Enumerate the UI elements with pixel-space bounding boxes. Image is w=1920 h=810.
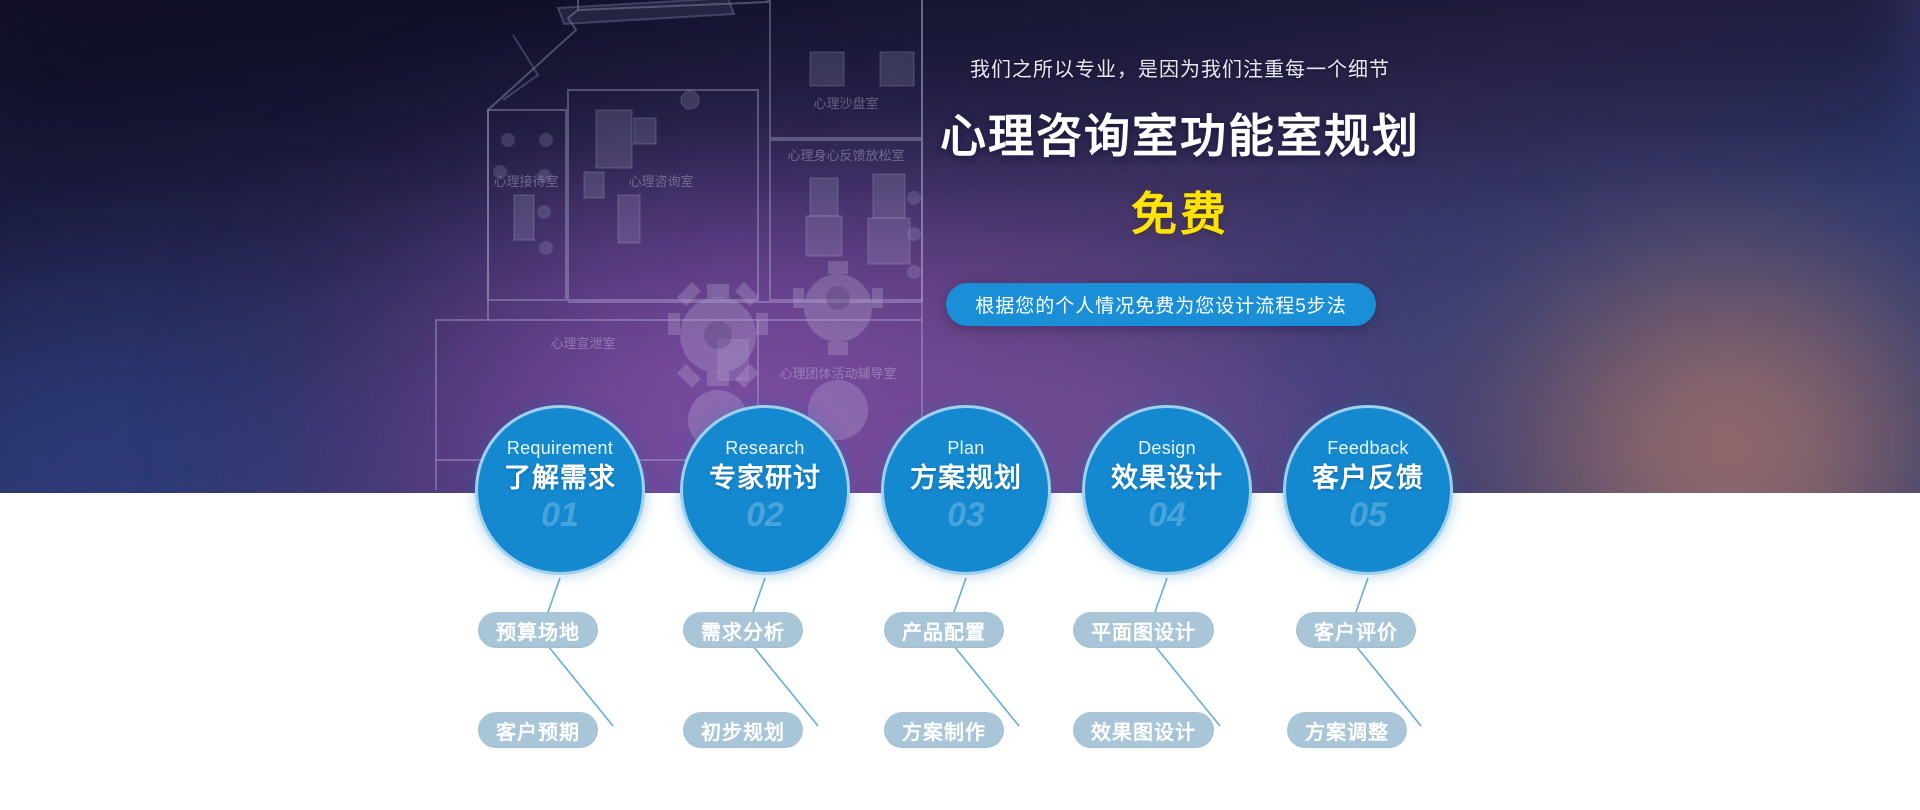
step-circle-5[interactable]: Feedback 客户反馈 05	[1283, 405, 1453, 575]
floorplan-illustration: 心理沙盘室 心理身心反馈放松室 心理接待室 心理咨询室 心理宣泄室 心理团体活动…	[418, 0, 938, 490]
step-number: 05	[1349, 498, 1387, 532]
step-tag-top-5[interactable]: 客户评价	[1296, 612, 1416, 648]
step-en-label: Research	[725, 439, 804, 457]
step-circle-3[interactable]: Plan 方案规划 03	[881, 405, 1051, 575]
cta-button[interactable]: 根据您的个人情况免费为您设计流程5步法	[946, 283, 1376, 326]
step-number: 02	[746, 498, 784, 532]
step-tag-top-1[interactable]: 预算场地	[478, 612, 598, 648]
step-tag-bottom-1[interactable]: 客户预期	[478, 712, 598, 748]
step-circle-1[interactable]: Requirement 了解需求 01	[475, 405, 645, 575]
step-tag-top-2[interactable]: 需求分析	[683, 612, 803, 648]
hero-banner: 心理沙盘室 心理身心反馈放松室 心理接待室 心理咨询室 心理宣泄室 心理团体活动…	[0, 0, 1920, 810]
step-cn-label: 效果设计	[1111, 465, 1223, 492]
step-en-label: Requirement	[507, 439, 613, 457]
step-cn-label: 方案规划	[910, 465, 1022, 492]
step-tag-bottom-4[interactable]: 效果图设计	[1073, 712, 1214, 748]
hero-headline: 心理咨询室功能室规划	[900, 100, 1460, 166]
step-number: 03	[947, 498, 985, 532]
step-en-label: Feedback	[1327, 439, 1408, 457]
step-tag-top-4[interactable]: 平面图设计	[1073, 612, 1214, 648]
step-circle-2[interactable]: Research 专家研讨 02	[680, 405, 850, 575]
step-tag-top-3[interactable]: 产品配置	[884, 612, 1004, 648]
hero-free-label: 免费	[900, 178, 1460, 244]
floorplan-room-label: 心理沙盘室	[813, 96, 878, 111]
hero-kicker: 我们之所以专业，是因为我们注重每一个细节	[900, 56, 1460, 84]
floorplan-room-label: 心理团体活动辅导室	[779, 366, 896, 381]
step-cn-label: 客户反馈	[1312, 465, 1424, 492]
step-number: 01	[541, 498, 579, 532]
step-number: 04	[1148, 498, 1186, 532]
step-en-label: Plan	[947, 439, 984, 457]
step-tag-bottom-5[interactable]: 方案调整	[1287, 712, 1407, 748]
step-cn-label: 了解需求	[504, 465, 616, 492]
floorplan-room-label: 心理接待室	[493, 174, 558, 189]
step-tag-bottom-3[interactable]: 方案制作	[884, 712, 1004, 748]
step-circle-4[interactable]: Design 效果设计 04	[1082, 405, 1252, 575]
floorplan-room-label: 心理咨询室	[628, 174, 693, 189]
floorplan-room-label: 心理宣泄室	[550, 336, 615, 351]
step-tag-bottom-2[interactable]: 初步规划	[683, 712, 803, 748]
step-en-label: Design	[1138, 439, 1196, 457]
hero-copy: 我们之所以专业，是因为我们注重每一个细节 心理咨询室功能室规划 免费	[900, 56, 1460, 244]
step-cn-label: 专家研讨	[709, 465, 821, 492]
floorplan-room-label: 心理身心反馈放松室	[787, 148, 904, 163]
